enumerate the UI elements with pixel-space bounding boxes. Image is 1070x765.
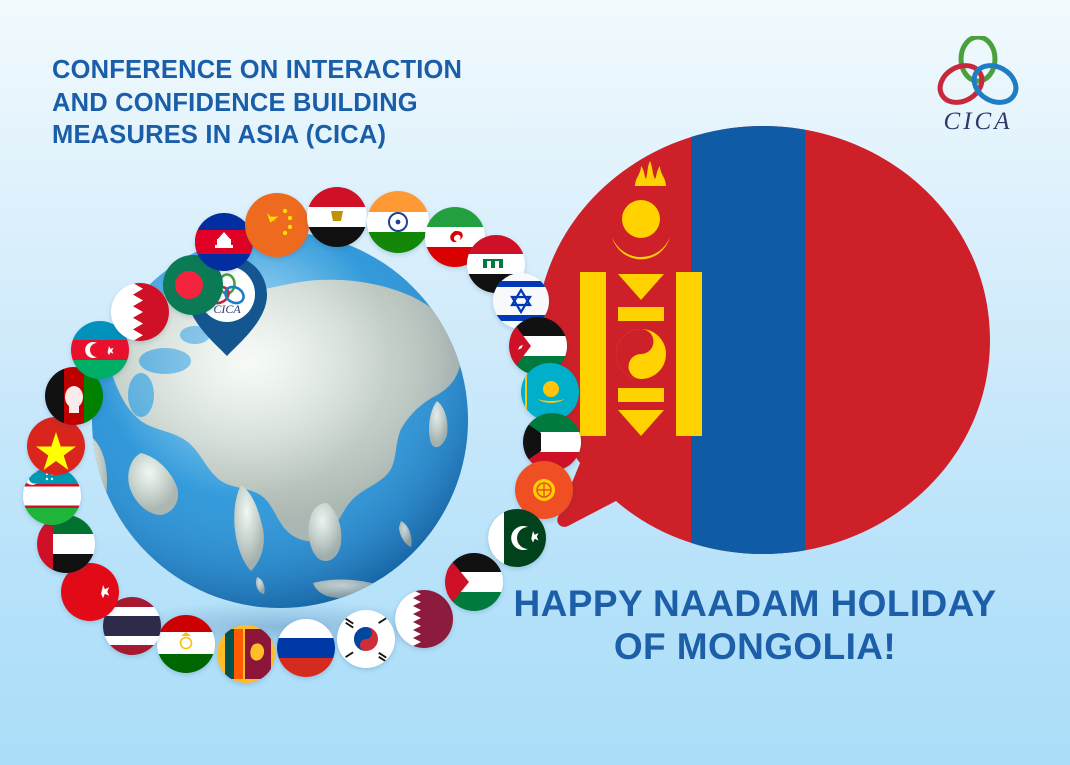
page-title: Conference on Interaction and Confidence… — [52, 54, 522, 152]
mongolia-flag-speech-bubble — [528, 122, 998, 572]
flag-egypt[interactable] — [307, 187, 367, 247]
greeting-text: Happy Naadam Holiday of Mongolia! — [470, 582, 1040, 669]
cica-trefoil-icon — [918, 36, 1038, 114]
globe-with-member-flags: CICA — [45, 185, 515, 695]
flag-russia[interactable] — [277, 619, 335, 677]
mongolia-flag-icon — [528, 122, 998, 572]
flag-sri-lanka[interactable] — [217, 625, 275, 683]
flag-uzbekistan[interactable] — [23, 467, 81, 525]
flag-pakistan[interactable] — [488, 509, 546, 567]
flag-india[interactable] — [367, 191, 429, 253]
flag-tajikistan[interactable] — [157, 615, 215, 673]
flag-blue-stripe — [691, 122, 805, 572]
flag-china[interactable] — [245, 193, 309, 257]
flag-qatar[interactable] — [395, 590, 453, 648]
map-pin-label: CICA — [213, 302, 241, 316]
flag-south-korea[interactable] — [337, 610, 395, 668]
flag-bahrain[interactable] — [111, 283, 169, 341]
poster-canvas: Conference on Interaction and Confidence… — [0, 0, 1070, 765]
flag-vietnam[interactable] — [27, 417, 85, 475]
